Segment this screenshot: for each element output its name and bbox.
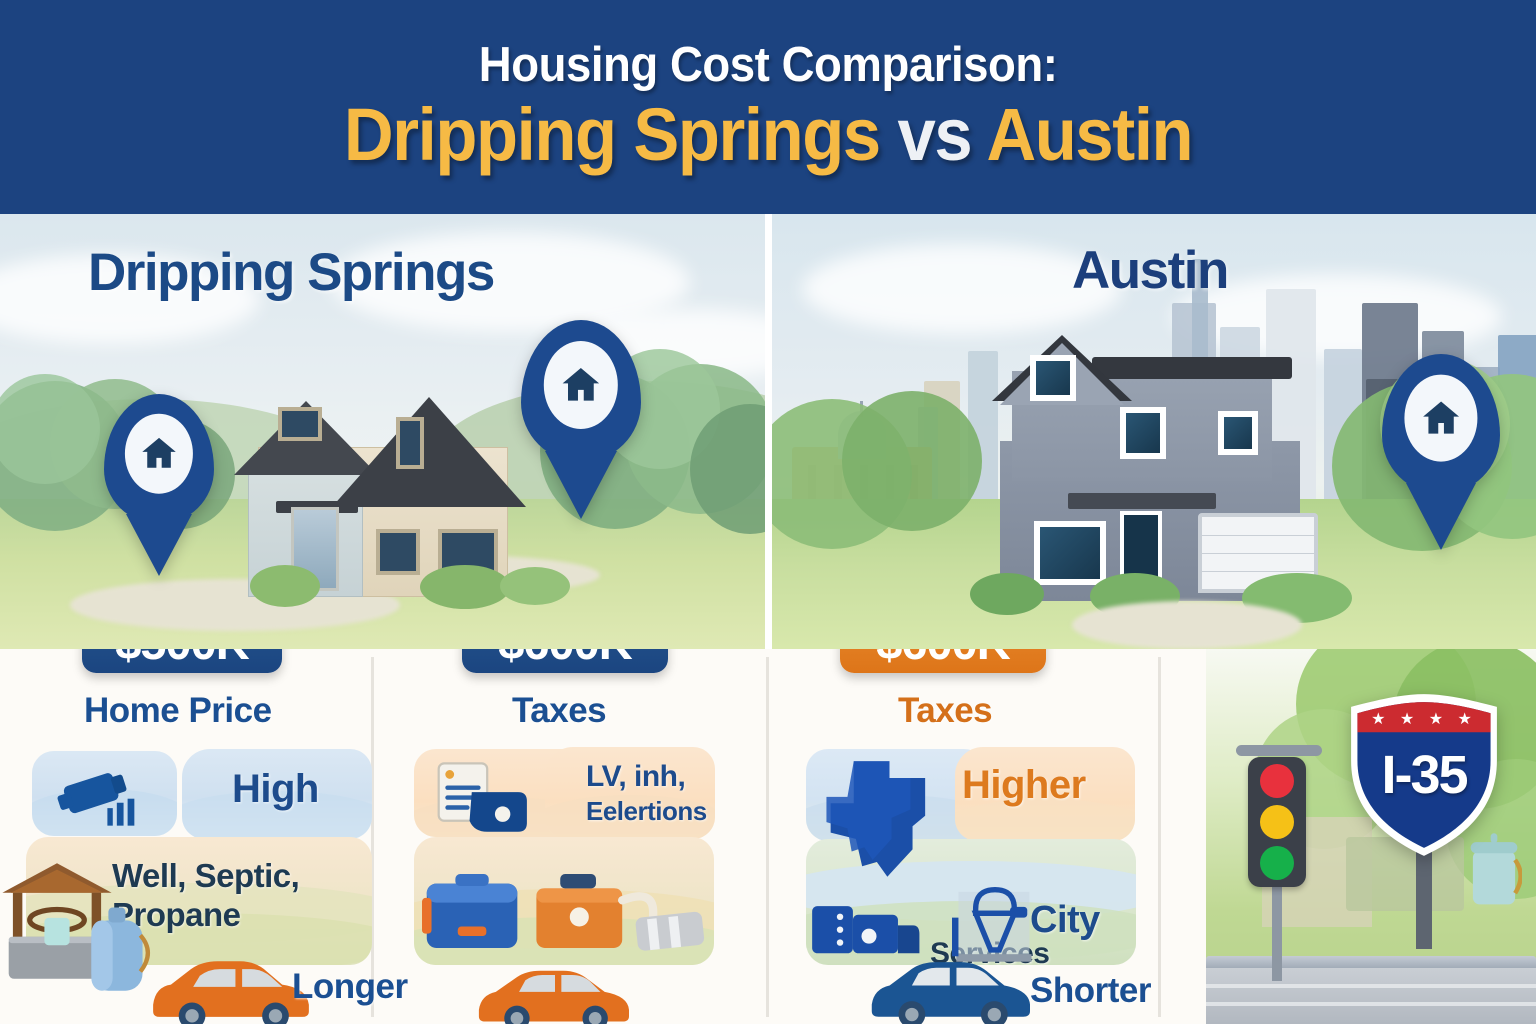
scenes-row: Dripping Springs (0, 214, 1536, 649)
propane-tanks-icon (422, 857, 708, 965)
badge-taxes-austin: $600K (840, 649, 1046, 673)
texas-state-icon (822, 757, 938, 883)
traffic-light-pole (1272, 881, 1282, 981)
bush-shape (500, 567, 570, 605)
header-title-vs: vs (897, 93, 971, 176)
scene-austin: Austin (772, 214, 1536, 649)
orange-car-icon (470, 957, 640, 1024)
header-title: Dripping Springs vs Austin (344, 97, 1192, 174)
metrics-area: $500K Home Price (0, 649, 1536, 1024)
traffic-light-green (1260, 846, 1294, 880)
card-text-high: High (232, 767, 319, 812)
panel-title-dripping-springs: Dripping Springs (88, 242, 494, 303)
bush-shape (970, 573, 1044, 615)
infographic-canvas: Housing Cost Comparison: Dripping Spring… (0, 0, 1536, 1024)
shield-number: I-35 (1344, 744, 1504, 806)
card-text-city: City (1030, 899, 1100, 942)
traffic-light-icon (1248, 757, 1306, 887)
bush-shape (250, 565, 320, 607)
pin-inner-circle (125, 414, 193, 495)
label-taxes-dripping-springs: Taxes (512, 691, 606, 731)
road-surface (1206, 968, 1536, 1024)
panel-title-austin: Austin (1072, 240, 1228, 301)
column-divider (1158, 657, 1161, 1017)
pin-inner-circle (1404, 375, 1477, 462)
card-utilities (32, 751, 177, 836)
header-subtitle: Housing Cost Comparison: (479, 41, 1058, 91)
utilities-icon (54, 765, 150, 827)
highway-scene: ★ ★ ★ ★ I-35 (1206, 649, 1536, 1024)
bush-shape (420, 565, 510, 609)
header-banner: Housing Cost Comparison: Dripping Spring… (0, 0, 1536, 214)
panel-divider (766, 657, 769, 1017)
commute-label-shorter: Shorter (1030, 971, 1151, 1011)
traffic-light-yellow (1260, 805, 1294, 839)
pin-inner-circle (544, 341, 618, 429)
garden-path (1072, 601, 1302, 649)
tree-foliage (842, 391, 982, 531)
card-text-tax-types: LV, inh, Eelertions (586, 759, 707, 827)
card-text-higher: Higher (962, 763, 1086, 808)
badge-taxes-dripping-springs: $600K (462, 649, 668, 673)
navy-car-icon (862, 951, 1042, 1024)
house-illustration-dripping-springs (228, 347, 538, 597)
label-home-price: Home Price (84, 691, 272, 731)
label-taxes-austin: Taxes (898, 691, 992, 731)
house-illustration-austin (972, 311, 1362, 601)
shield-stars: ★ ★ ★ ★ (1344, 709, 1504, 729)
header-title-dripping-springs: Dripping Springs (344, 93, 880, 176)
commute-label-longer: Longer (292, 967, 408, 1007)
card-text-tax-line1: LV, inh, (586, 759, 707, 796)
badge-home-price: $500K (82, 649, 282, 673)
document-hand-icon (432, 759, 538, 845)
traffic-light-red (1260, 764, 1294, 798)
card-text-tax-line2: Eelertions (586, 796, 707, 828)
header-title-austin: Austin (986, 93, 1192, 176)
scene-dripping-springs: Dripping Springs (0, 214, 765, 649)
